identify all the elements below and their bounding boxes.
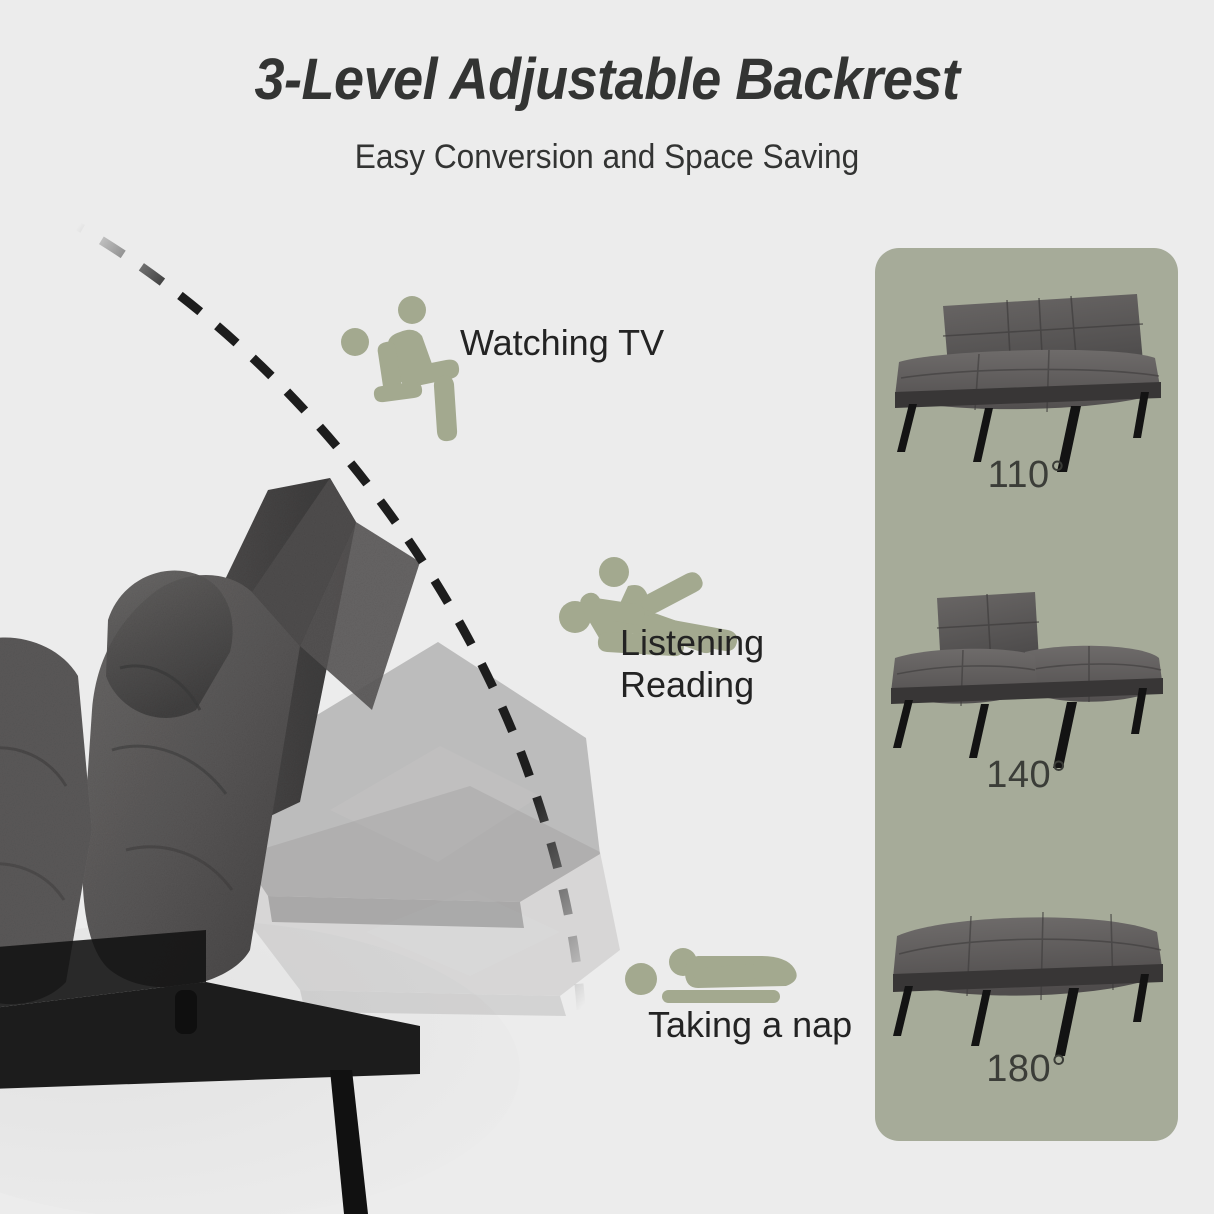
angle-label-140: 140° xyxy=(875,754,1178,797)
callout-label-watching-tv: Watching TV xyxy=(460,322,664,364)
angle-positions-panel: 110° xyxy=(875,248,1178,1141)
angle-label-110: 110° xyxy=(875,454,1178,497)
callout-label-listening-reading: Listening Reading xyxy=(620,622,764,706)
position-110: 110° xyxy=(875,266,1178,536)
position-180: 180° xyxy=(875,866,1178,1136)
person-lying-icon xyxy=(662,948,797,1003)
arc-dot-watching-tv xyxy=(341,328,369,356)
position-140: 140° xyxy=(875,566,1178,836)
sofa-figure-180 xyxy=(875,866,1178,1076)
person-sitting-icon xyxy=(374,296,459,441)
arc-dot-taking-a-nap xyxy=(625,963,657,995)
infographic-canvas: 3-Level Adjustable Backrest Easy Convers… xyxy=(0,0,1214,1214)
page-title: 3-Level Adjustable Backrest xyxy=(42,46,1171,113)
angle-label-180: 180° xyxy=(875,1048,1178,1091)
sofa-figure-140 xyxy=(875,566,1178,776)
callout-label-taking-a-nap: Taking a nap xyxy=(648,1004,852,1046)
sofa-figure-110 xyxy=(875,266,1178,476)
page-subtitle: Easy Conversion and Space Saving xyxy=(42,138,1171,177)
